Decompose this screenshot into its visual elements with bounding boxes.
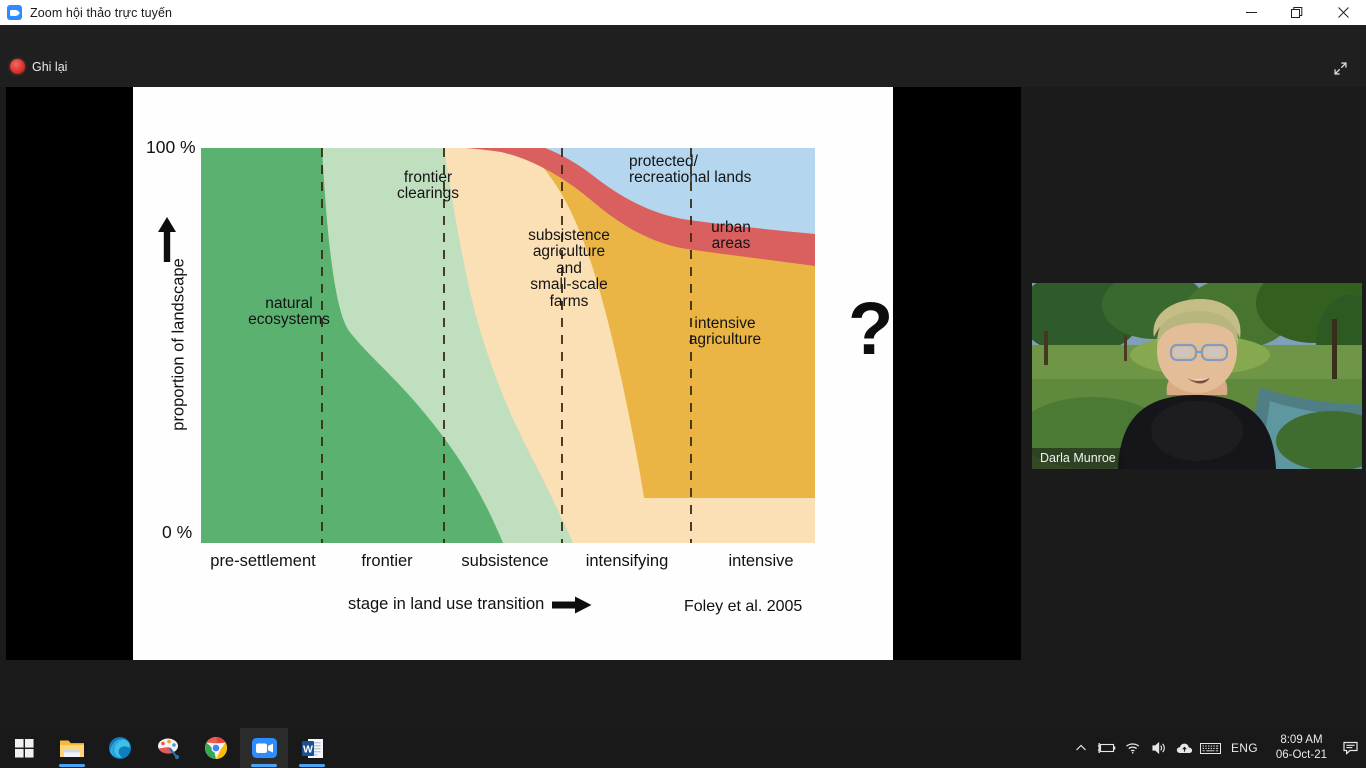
chart-plot-area: natural ecosystems frontier clearings su…: [201, 148, 815, 543]
y-axis-top-tick: 100 %: [146, 137, 196, 158]
presentation-slide: 100 % 0 % proportion of landscape: [133, 87, 893, 660]
shared-content-stage: 100 % 0 % proportion of landscape: [6, 87, 1021, 660]
speaker-icon[interactable]: [1146, 728, 1172, 768]
x-tick-intensive: intensive: [728, 552, 793, 571]
x-tick-intensifying: intensifying: [586, 552, 669, 571]
minimize-button[interactable]: [1228, 0, 1274, 25]
recording-indicator[interactable]: Ghi lại: [10, 59, 67, 74]
restore-button[interactable]: [1274, 0, 1320, 25]
x-axis-title: stage in land use transition: [348, 595, 544, 614]
question-mark-annotation: ?: [848, 292, 893, 366]
x-axis-arrow-icon: [552, 596, 592, 614]
chrome-button[interactable]: [192, 728, 240, 768]
x-axis-tick-labels: pre-settlement frontier subsistence inte…: [193, 552, 833, 576]
start-button[interactable]: [0, 728, 48, 768]
zoom-camera-icon: [252, 738, 277, 758]
file-explorer-button[interactable]: [48, 728, 96, 768]
word-button[interactable]: W: [288, 728, 336, 768]
chrome-icon: [204, 736, 228, 760]
record-dot-icon: [10, 59, 25, 74]
edge-button[interactable]: [96, 728, 144, 768]
video-frame: [1032, 283, 1362, 469]
folder-icon: [59, 737, 85, 759]
paint-button[interactable]: [144, 728, 192, 768]
battery-charging-icon[interactable]: [1094, 728, 1120, 768]
wifi-icon[interactable]: [1120, 728, 1146, 768]
participant-video-tile[interactable]: Darla Munroe: [1032, 283, 1362, 469]
x-tick-subsistence: subsistence: [461, 552, 548, 571]
meeting-toolbar: Ghi lại: [0, 25, 1366, 87]
stacked-area-chart: [201, 148, 815, 543]
notification-icon[interactable]: [1336, 728, 1366, 768]
word-icon: W: [301, 737, 324, 760]
clock-time: 8:09 AM: [1276, 733, 1327, 748]
x-axis-caption: stage in land use transition: [348, 595, 592, 614]
keyboard-icon[interactable]: [1198, 728, 1224, 768]
zoom-camera-icon: [7, 5, 22, 20]
participant-name-badge: Darla Munroe: [1032, 448, 1124, 469]
x-tick-pre-settlement: pre-settlement: [210, 552, 315, 571]
cloud-upload-icon[interactable]: [1172, 728, 1198, 768]
windows-taskbar: W: [0, 728, 1366, 768]
edge-icon: [108, 736, 132, 760]
window-title-bar: Zoom hội thảo trực tuyến: [0, 0, 1366, 25]
clock[interactable]: 8:09 AM 06-Oct-21: [1267, 733, 1336, 762]
system-tray: ENG 8:09 AM 06-Oct-21: [1068, 728, 1366, 768]
window-title: Zoom hội thảo trực tuyến: [30, 6, 172, 20]
close-button[interactable]: [1320, 0, 1366, 25]
y-axis-bottom-tick: 0 %: [162, 522, 192, 543]
paint-icon: [156, 736, 180, 760]
window-controls: [1228, 0, 1366, 25]
zoom-button[interactable]: [240, 728, 288, 768]
y-axis-title: proportion of landscape: [170, 235, 189, 455]
source-credit: Foley et al. 2005: [684, 598, 802, 616]
chevron-up-icon[interactable]: [1068, 728, 1094, 768]
x-tick-frontier: frontier: [361, 552, 412, 571]
input-language-indicator[interactable]: ENG: [1224, 741, 1267, 755]
clock-date: 06-Oct-21: [1276, 748, 1327, 763]
windows-logo-icon: [15, 739, 34, 758]
land-use-transition-figure: 100 % 0 % proportion of landscape: [133, 87, 893, 660]
svg-text:W: W: [303, 743, 313, 755]
recording-label: Ghi lại: [32, 60, 67, 74]
expand-arrows-icon[interactable]: [1326, 56, 1354, 80]
